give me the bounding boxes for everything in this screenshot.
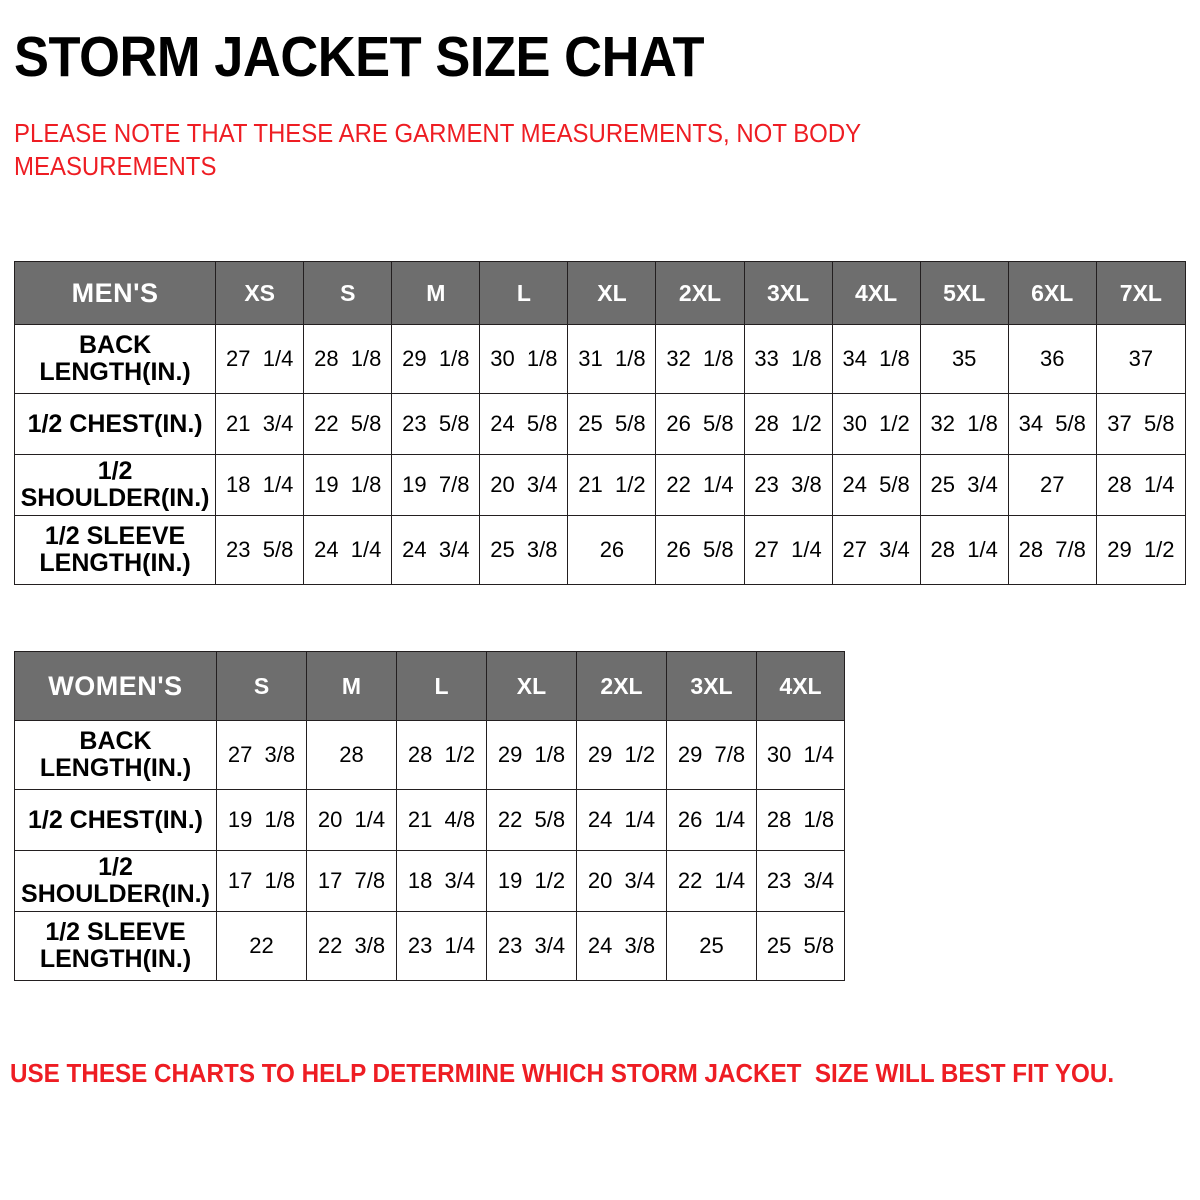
cell-value: 24 5/8 <box>490 411 557 437</box>
cell: 26 <box>568 516 656 585</box>
cell-value: 27 <box>1040 472 1064 498</box>
womens-col-4xl: 4XL <box>757 652 845 721</box>
cell-value: 34 5/8 <box>1019 411 1086 437</box>
table-row: BACK LENGTH(IN.) 27 3/8 28 28 1/2 29 1/8… <box>15 721 845 790</box>
cell: 31 1/8 <box>568 325 656 394</box>
cell-value: 21 3/4 <box>226 411 293 437</box>
cell-value: 37 <box>1129 346 1153 372</box>
table-row: 1/2 SHOULDER(IN.) 18 1/4 19 1/8 19 7/8 2… <box>15 455 1186 516</box>
mens-row-label-half-chest: 1/2 CHEST(IN.) <box>15 394 216 455</box>
fit-guidance-note: USE THESE CHARTS TO HELP DETERMINE WHICH… <box>10 1058 1114 1090</box>
cell-value: 31 1/8 <box>578 346 645 372</box>
cell: 30 1/8 <box>480 325 568 394</box>
mens-row-label-half-sleeve-length: 1/2 SLEEVE LENGTH(IN.) <box>15 516 216 585</box>
cell: 21 3/4 <box>216 394 304 455</box>
cell: 19 1/8 <box>304 455 392 516</box>
cell: 27 3/8 <box>217 721 307 790</box>
cell: 27 1/4 <box>216 325 304 394</box>
cell-value: 24 5/8 <box>842 472 909 498</box>
cell-value: 29 1/2 <box>1107 537 1174 563</box>
cell: 28 1/8 <box>304 325 392 394</box>
cell-value: 37 5/8 <box>1107 411 1174 437</box>
row-label-line2: LENGTH(IN.) <box>17 946 214 973</box>
mens-col-2xl: 2XL <box>656 262 744 325</box>
cell-value: 26 1/4 <box>678 807 745 833</box>
womens-col-s: S <box>217 652 307 721</box>
mens-col-5xl: 5XL <box>920 262 1008 325</box>
cell: 19 1/8 <box>217 790 307 851</box>
mens-col-4xl: 4XL <box>832 262 920 325</box>
cell-value: 27 1/4 <box>754 537 821 563</box>
mens-col-7xl: 7XL <box>1096 262 1185 325</box>
cell: 28 1/4 <box>1096 455 1185 516</box>
cell: 24 1/4 <box>577 790 667 851</box>
mens-col-s: S <box>304 262 392 325</box>
cell-value: 34 1/8 <box>842 346 909 372</box>
cell-value: 21 1/2 <box>578 472 645 498</box>
cell: 24 1/4 <box>304 516 392 585</box>
cell-value: 32 1/8 <box>666 346 733 372</box>
cell: 22 5/8 <box>304 394 392 455</box>
cell-value: 23 3/8 <box>754 472 821 498</box>
cell: 22 <box>217 912 307 981</box>
table-row: 1/2 CHEST(IN.) 19 1/8 20 1/4 21 4/8 22 5… <box>15 790 845 851</box>
cell: 22 1/4 <box>667 851 757 912</box>
cell-value: 21 4/8 <box>408 807 475 833</box>
cell-value: 30 1/8 <box>490 346 557 372</box>
cell: 28 1/2 <box>397 721 487 790</box>
womens-row-label-half-shoulder: 1/2 SHOULDER(IN.) <box>15 851 217 912</box>
cell-value: 23 3/4 <box>498 933 565 959</box>
mens-col-xl: XL <box>568 262 656 325</box>
cell-value: 24 1/4 <box>314 537 381 563</box>
cell-value: 29 7/8 <box>678 742 745 768</box>
row-label-line1: 1/2 CHEST(IN.) <box>17 807 214 834</box>
cell-value: 22 <box>249 933 273 959</box>
row-label-line1: BACK <box>17 332 213 359</box>
cell-value: 28 1/2 <box>408 742 475 768</box>
cell: 26 1/4 <box>667 790 757 851</box>
row-label-line1: 1/2 SHOULDER(IN.) <box>17 458 213 512</box>
cell: 21 4/8 <box>397 790 487 851</box>
table-row: 1/2 SLEEVE LENGTH(IN.) 22 22 3/8 23 1/4 … <box>15 912 845 981</box>
cell: 35 <box>920 325 1008 394</box>
cell-value: 32 1/8 <box>931 411 998 437</box>
cell: 29 7/8 <box>667 721 757 790</box>
cell-value: 27 1/4 <box>226 346 293 372</box>
cell-value: 26 <box>600 537 624 563</box>
row-label-line1: 1/2 SLEEVE <box>17 919 214 946</box>
cell: 29 1/2 <box>577 721 667 790</box>
cell-value: 29 1/8 <box>402 346 469 372</box>
cell-value: 26 5/8 <box>666 411 733 437</box>
cell: 23 1/4 <box>397 912 487 981</box>
row-label-line1: BACK <box>17 728 214 755</box>
cell: 33 1/8 <box>744 325 832 394</box>
cell: 21 1/2 <box>568 455 656 516</box>
cell: 18 1/4 <box>216 455 304 516</box>
mens-col-l: L <box>480 262 568 325</box>
womens-col-m: M <box>307 652 397 721</box>
mens-col-m: M <box>392 262 480 325</box>
cell: 30 1/2 <box>832 394 920 455</box>
cell: 26 5/8 <box>656 516 744 585</box>
cell: 24 3/4 <box>392 516 480 585</box>
cell: 29 1/8 <box>392 325 480 394</box>
table-row: 1/2 SHOULDER(IN.) 17 1/8 17 7/8 18 3/4 1… <box>15 851 845 912</box>
cell-value: 25 5/8 <box>767 933 834 959</box>
cell-value: 20 1/4 <box>318 807 385 833</box>
table-row: 1/2 SLEEVE LENGTH(IN.) 23 5/8 24 1/4 24 … <box>15 516 1186 585</box>
cell: 37 <box>1096 325 1185 394</box>
cell: 26 5/8 <box>656 394 744 455</box>
cell-value: 23 5/8 <box>402 411 469 437</box>
cell-value: 28 7/8 <box>1019 537 1086 563</box>
cell: 20 3/4 <box>480 455 568 516</box>
cell: 34 5/8 <box>1008 394 1096 455</box>
cell-value: 25 <box>699 933 723 959</box>
cell: 34 1/8 <box>832 325 920 394</box>
cell-value: 29 1/2 <box>588 742 655 768</box>
womens-row-label-back-length: BACK LENGTH(IN.) <box>15 721 217 790</box>
cell: 28 1/8 <box>757 790 845 851</box>
cell-value: 18 3/4 <box>408 868 475 894</box>
cell: 17 1/8 <box>217 851 307 912</box>
cell: 25 <box>667 912 757 981</box>
cell-value: 30 1/4 <box>767 742 834 768</box>
cell-value: 22 1/4 <box>678 868 745 894</box>
cell-value: 22 3/8 <box>318 933 385 959</box>
cell: 27 3/4 <box>832 516 920 585</box>
garment-measurement-note: PLEASE NOTE THAT THESE ARE GARMENT MEASU… <box>14 118 916 184</box>
cell-value: 18 1/4 <box>226 472 293 498</box>
womens-col-3xl: 3XL <box>667 652 757 721</box>
cell-value: 20 3/4 <box>588 868 655 894</box>
cell-value: 35 <box>952 346 976 372</box>
cell: 28 7/8 <box>1008 516 1096 585</box>
cell: 28 <box>307 721 397 790</box>
womens-col-2xl: 2XL <box>577 652 667 721</box>
womens-size-table: WOMEN'S S M L XL 2XL 3XL 4XL BACK LENGTH… <box>14 651 845 981</box>
mens-col-3xl: 3XL <box>744 262 832 325</box>
mens-table-header-row: MEN'S XS S M L XL 2XL 3XL 4XL 5XL 6XL 7X… <box>15 262 1186 325</box>
cell: 23 3/4 <box>487 912 577 981</box>
cell: 24 3/8 <box>577 912 667 981</box>
mens-col-xs: XS <box>216 262 304 325</box>
womens-table-header-row: WOMEN'S S M L XL 2XL 3XL 4XL <box>15 652 845 721</box>
cell-value: 22 5/8 <box>314 411 381 437</box>
cell: 28 1/2 <box>744 394 832 455</box>
page-title: STORM JACKET SIZE CHAT <box>14 26 704 88</box>
cell: 23 5/8 <box>216 516 304 585</box>
cell-value: 23 3/4 <box>767 868 834 894</box>
cell-value: 28 1/4 <box>1107 472 1174 498</box>
cell: 22 3/8 <box>307 912 397 981</box>
cell-value: 36 <box>1040 346 1064 372</box>
cell-value: 22 5/8 <box>498 807 565 833</box>
cell-value: 33 1/8 <box>754 346 821 372</box>
cell-value: 24 1/4 <box>588 807 655 833</box>
womens-row-label-half-chest: 1/2 CHEST(IN.) <box>15 790 217 851</box>
cell-value: 29 1/8 <box>498 742 565 768</box>
cell-value: 19 1/2 <box>498 868 565 894</box>
cell: 22 5/8 <box>487 790 577 851</box>
cell: 25 3/4 <box>920 455 1008 516</box>
cell: 20 3/4 <box>577 851 667 912</box>
cell-value: 24 3/8 <box>588 933 655 959</box>
mens-row-label-back-length: BACK LENGTH(IN.) <box>15 325 216 394</box>
cell: 22 1/4 <box>656 455 744 516</box>
cell-value: 17 7/8 <box>318 868 385 894</box>
cell: 27 1/4 <box>744 516 832 585</box>
row-label-line2: LENGTH(IN.) <box>17 550 213 577</box>
cell: 24 5/8 <box>832 455 920 516</box>
cell: 32 1/8 <box>656 325 744 394</box>
row-label-line1: 1/2 SHOULDER(IN.) <box>17 854 214 908</box>
cell: 25 3/8 <box>480 516 568 585</box>
cell: 19 1/2 <box>487 851 577 912</box>
cell-value: 19 1/8 <box>314 472 381 498</box>
cell: 29 1/2 <box>1096 516 1185 585</box>
cell: 28 1/4 <box>920 516 1008 585</box>
cell-value: 28 1/8 <box>314 346 381 372</box>
cell: 25 5/8 <box>757 912 845 981</box>
row-label-line2: LENGTH(IN.) <box>17 755 214 782</box>
womens-col-xl: XL <box>487 652 577 721</box>
cell-value: 22 1/4 <box>666 472 733 498</box>
cell-value: 26 5/8 <box>666 537 733 563</box>
cell: 23 3/4 <box>757 851 845 912</box>
cell-value: 28 1/8 <box>767 807 834 833</box>
cell-value: 23 1/4 <box>408 933 475 959</box>
womens-row-label-half-sleeve-length: 1/2 SLEEVE LENGTH(IN.) <box>15 912 217 981</box>
cell-value: 23 5/8 <box>226 537 293 563</box>
womens-col-l: L <box>397 652 487 721</box>
womens-corner-label: WOMEN'S <box>15 652 217 721</box>
mens-corner-label: MEN'S <box>15 262 216 325</box>
cell-value: 20 3/4 <box>490 472 557 498</box>
cell-value: 25 5/8 <box>578 411 645 437</box>
table-row: BACK LENGTH(IN.) 27 1/4 28 1/8 29 1/8 30… <box>15 325 1186 394</box>
cell: 20 1/4 <box>307 790 397 851</box>
cell: 19 7/8 <box>392 455 480 516</box>
cell-value: 19 7/8 <box>402 472 469 498</box>
cell: 23 3/8 <box>744 455 832 516</box>
table-row: 1/2 CHEST(IN.) 21 3/4 22 5/8 23 5/8 24 5… <box>15 394 1186 455</box>
cell-value: 27 3/8 <box>228 742 295 768</box>
size-chart-page: STORM JACKET SIZE CHAT PLEASE NOTE THAT … <box>0 0 1200 1200</box>
cell: 27 <box>1008 455 1096 516</box>
mens-col-6xl: 6XL <box>1008 262 1096 325</box>
cell: 24 5/8 <box>480 394 568 455</box>
cell-value: 19 1/8 <box>228 807 295 833</box>
cell: 18 3/4 <box>397 851 487 912</box>
mens-size-table: MEN'S XS S M L XL 2XL 3XL 4XL 5XL 6XL 7X… <box>14 261 1186 585</box>
cell-value: 25 3/8 <box>490 537 557 563</box>
cell-value: 28 1/4 <box>931 537 998 563</box>
cell: 17 7/8 <box>307 851 397 912</box>
row-label-line1: 1/2 CHEST(IN.) <box>17 411 213 438</box>
cell-value: 28 1/2 <box>754 411 821 437</box>
row-label-line2: LENGTH(IN.) <box>17 359 213 386</box>
cell-value: 30 1/2 <box>842 411 909 437</box>
cell: 29 1/8 <box>487 721 577 790</box>
cell: 37 5/8 <box>1096 394 1185 455</box>
mens-row-label-half-shoulder: 1/2 SHOULDER(IN.) <box>15 455 216 516</box>
cell: 36 <box>1008 325 1096 394</box>
cell: 23 5/8 <box>392 394 480 455</box>
cell-value: 25 3/4 <box>931 472 998 498</box>
cell-value: 28 <box>339 742 363 768</box>
cell-value: 17 1/8 <box>228 868 295 894</box>
row-label-line1: 1/2 SLEEVE <box>17 523 213 550</box>
cell: 25 5/8 <box>568 394 656 455</box>
cell-value: 24 3/4 <box>402 537 469 563</box>
cell: 32 1/8 <box>920 394 1008 455</box>
cell: 30 1/4 <box>757 721 845 790</box>
cell-value: 27 3/4 <box>842 537 909 563</box>
